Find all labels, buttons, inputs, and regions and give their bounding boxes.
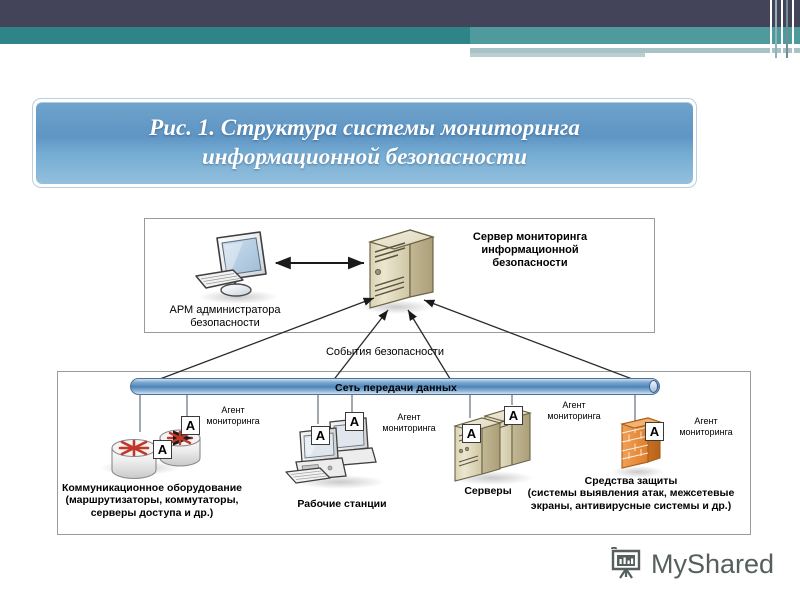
agent-badge-server-2: A xyxy=(504,406,523,425)
agent-label-workstations: Агент мониторинга xyxy=(372,412,446,433)
agent-label-servers: Агент мониторинга xyxy=(537,400,611,421)
network-bar-end-cap xyxy=(649,380,658,393)
diagram-canvas: A A A A A A A Сеть передачи данных АРМ а… xyxy=(0,200,800,545)
watermark-label: MyShared xyxy=(651,549,774,580)
agent-badge-workstation-1: A xyxy=(311,426,330,445)
protection-tools-caption: Средства защиты (системы выявления атак,… xyxy=(518,475,744,512)
workstations-icon xyxy=(286,418,385,489)
title-line-2: информационной безопасности xyxy=(202,144,527,169)
workstations-caption: Рабочие станции xyxy=(272,498,412,510)
monitoring-server-icon xyxy=(359,230,433,314)
header-vertical-stripe-4 xyxy=(786,0,788,58)
header-vertical-stripe-3 xyxy=(781,0,783,58)
agent-badge-workstation-2: A xyxy=(345,412,364,431)
header-vertical-stripe-1 xyxy=(770,0,772,58)
agent-badge-router-1: A xyxy=(153,440,172,459)
agent-label-communication: Агент мониторинга xyxy=(196,405,270,426)
header-teal-light-bar xyxy=(470,27,800,44)
agent-label-protection: Агент мониторинга xyxy=(669,416,743,437)
agent-badge-firewall: A xyxy=(645,422,664,441)
header-grey-stripe-2 xyxy=(470,53,645,57)
admin-workstation-icon xyxy=(196,232,278,304)
title-line-1: Рис. 1. Структура системы мониторинга xyxy=(149,115,580,140)
title-banner-inner: Рис. 1. Структура системы мониторинга ин… xyxy=(36,102,693,184)
header-decoration-band xyxy=(0,0,800,62)
header-vertical-stripe-2 xyxy=(775,0,777,58)
header-dark-bar xyxy=(0,0,800,27)
data-transmission-network-bar: Сеть передачи данных xyxy=(130,378,660,395)
header-vertical-stripe-5 xyxy=(792,0,794,58)
network-bar-label: Сеть передачи данных xyxy=(131,379,661,396)
agent-badge-server-1: A xyxy=(462,424,481,443)
security-events-label: События безопасности xyxy=(285,346,485,359)
communication-equipment-caption: Коммуникационное оборудование (маршрутиз… xyxy=(56,482,248,519)
title-banner: Рис. 1. Структура системы мониторинга ин… xyxy=(32,98,697,188)
communication-equipment-icon xyxy=(100,430,200,479)
myshared-watermark: MyShared xyxy=(608,540,788,588)
admin-workstation-label: АРМ администратора безопасности xyxy=(150,304,300,330)
page-title: Рис. 1. Структура системы мониторинга ин… xyxy=(133,114,596,171)
monitoring-server-label: Сервер мониторинга информационной безопа… xyxy=(440,231,620,270)
presentation-board-icon xyxy=(608,547,644,581)
